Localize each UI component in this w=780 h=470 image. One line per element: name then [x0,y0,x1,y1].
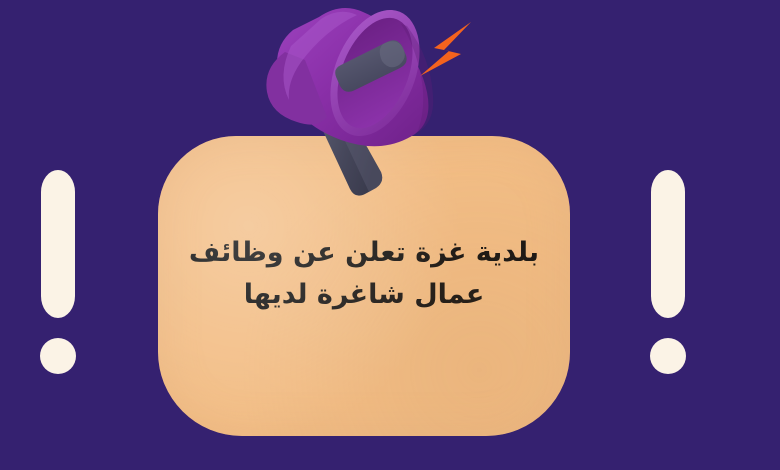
exclamation-mark-icon-right [640,170,696,400]
exclamation-dot [40,338,76,374]
lightning-bolt-icon [408,14,488,94]
exclamation-bar [651,170,685,318]
exclamation-dot [650,338,686,374]
announcement-poster: بلدية غزة تعلن عن وظائف عمال شاغرة لديها [0,0,780,470]
exclamation-bar [41,170,75,318]
exclamation-mark-icon-left [30,170,86,400]
headline-text: بلدية غزة تعلن عن وظائف عمال شاغرة لديها [158,232,570,316]
